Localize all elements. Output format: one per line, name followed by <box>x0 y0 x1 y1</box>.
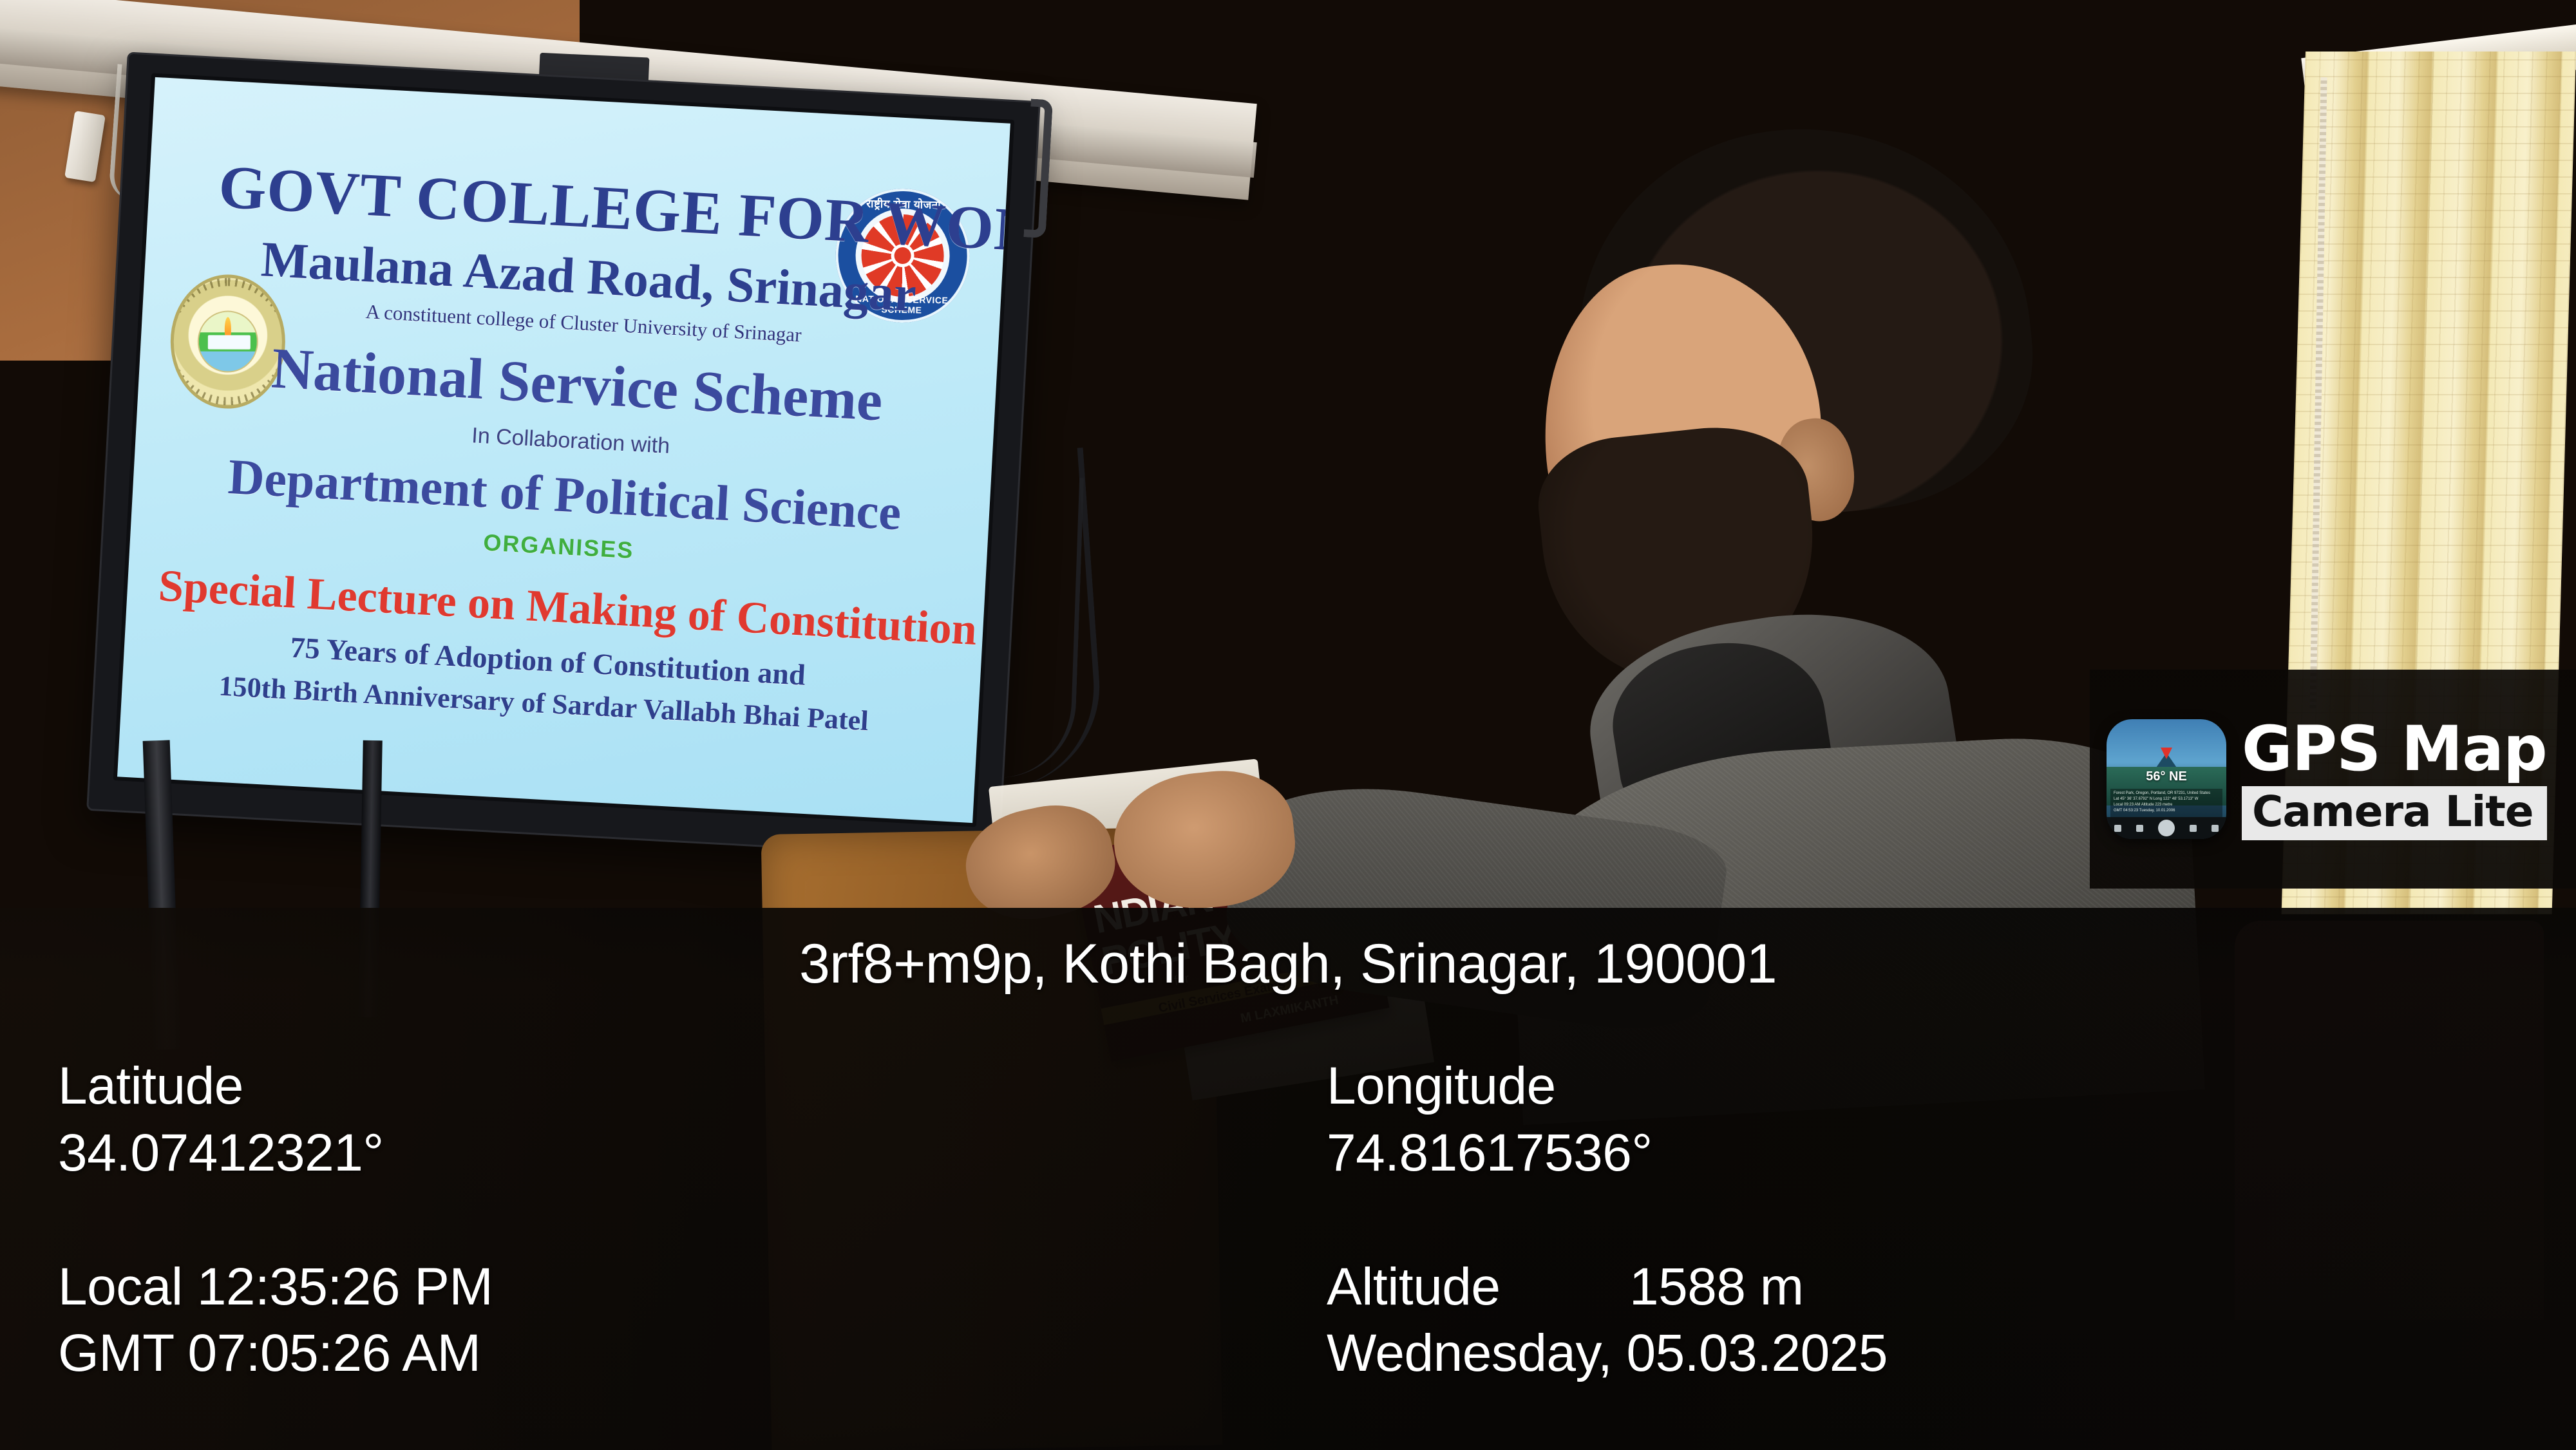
watermark-text: GPS Map Camera Lite <box>2242 718 2547 840</box>
compass-heading-text: 56° NE <box>2107 769 2226 784</box>
shutter-icon <box>2158 820 2175 836</box>
speaker-person <box>1475 129 2196 934</box>
settings-icon <box>2211 825 2219 832</box>
timer-icon <box>2190 825 2197 832</box>
app-icon-info-line-1: Forest Park, Oregon, Portland, OR 97231,… <box>2114 791 2219 796</box>
app-icon-info-line-2: Lat 45° 36' 37.6792" N Long 122° 48' 53.… <box>2114 796 2219 802</box>
address-text: 3rf8+m9p, Kothi Bagh, Srinagar, 190001 <box>0 932 2576 996</box>
display-frame: राष्ट्रीय सेवा योजना NATIONAL SERVICE SC… <box>86 52 1041 860</box>
date-text: Wednesday, 05.03.2025 <box>1327 1323 1888 1384</box>
latitude-value: 34.07412321° <box>58 1123 384 1183</box>
longitude-value: 74.81617536° <box>1327 1123 1653 1183</box>
display-screen: राष्ट्रीय सेवा योजना NATIONAL SERVICE SC… <box>117 77 1010 823</box>
gps-camera-photo: राष्ट्रीय सेवा योजना NATIONAL SERVICE SC… <box>0 0 2576 1450</box>
slide-content: GOVT COLLEGE FOR WOMEN Maulana Azad Road… <box>117 77 1010 823</box>
app-icon-info-line-4: GMT 04:53:23 Tuesday, 10.01.2006 <box>2114 808 2219 814</box>
latitude-label: Latitude <box>58 1056 243 1116</box>
grid-icon <box>2114 825 2121 832</box>
watermark-title: GPS Map <box>2242 718 2547 780</box>
compass-needle-icon <box>2161 748 2172 759</box>
altitude-value: 1588 m <box>1629 1257 1804 1317</box>
watermark-subtitle: Camera Lite <box>2242 786 2547 840</box>
app-icon-toolbar <box>2107 817 2226 839</box>
gps-map-camera-watermark: 56° NE Forest Park, Oregon, Portland, OR… <box>2090 670 2576 889</box>
gmt-time-text: GMT 07:05:26 AM <box>58 1323 480 1384</box>
shuffle-icon <box>2136 825 2143 832</box>
display-bezel: राष्ट्रीय सेवा योजना NATIONAL SERVICE SC… <box>113 73 1015 827</box>
presentation-display: राष्ट्रीय सेवा योजना NATIONAL SERVICE SC… <box>86 52 1041 860</box>
local-time-text: Local 12:35:26 PM <box>58 1257 493 1317</box>
app-icon-info-line-3: Local 09:23 AM Altitude 223 metre <box>2114 802 2219 808</box>
longitude-label: Longitude <box>1327 1056 1556 1116</box>
app-icon-info: Forest Park, Oregon, Portland, OR 97231,… <box>2110 789 2222 817</box>
altitude-label: Altitude <box>1327 1257 1501 1317</box>
app-icon: 56° NE Forest Park, Oregon, Portland, OR… <box>2107 719 2226 839</box>
